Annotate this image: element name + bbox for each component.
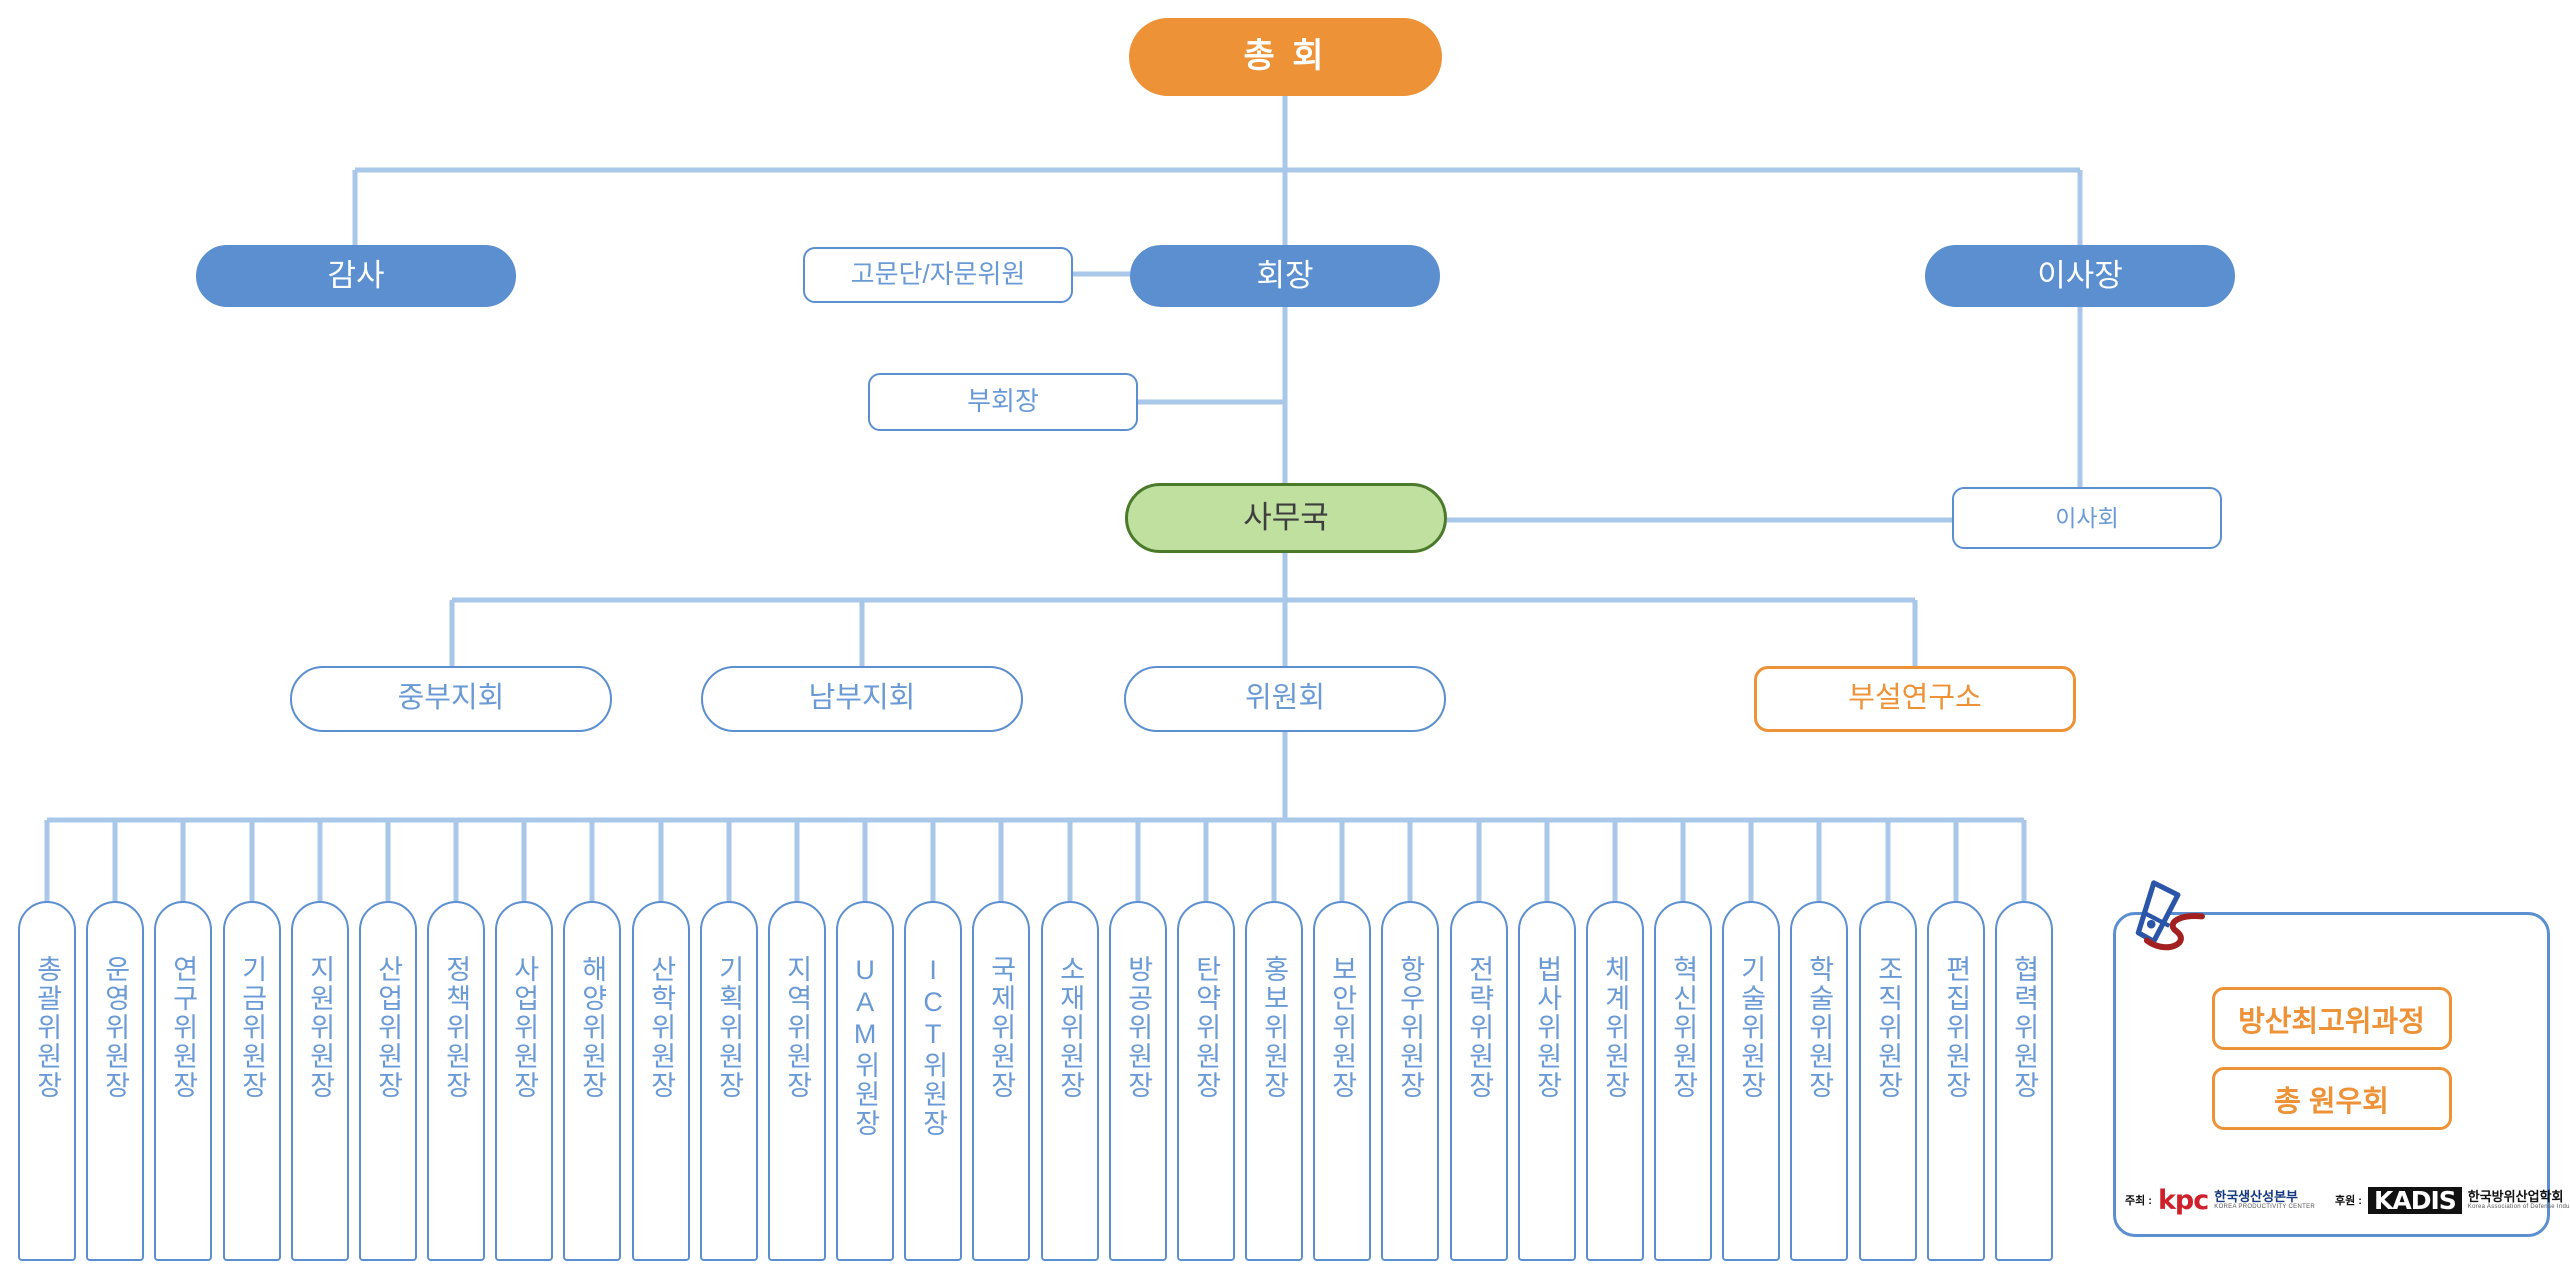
committee-label: 지역위원장 [782,955,812,1100]
node-label: 회장 [1256,258,1313,294]
pen-icon [2128,876,2214,962]
committee-capsule[interactable]: 사업위원장 [495,901,553,1261]
committee-capsule[interactable]: 해양위원장 [563,901,621,1261]
committee-capsule[interactable]: 정책위원장 [427,901,485,1261]
committee-label: 학술위원장 [1804,955,1834,1100]
committee-capsule[interactable]: 지원위원장 [291,901,349,1261]
committee-capsule[interactable]: 기술위원장 [1722,901,1780,1261]
node-secretariat[interactable]: 사무국 [1125,483,1447,553]
committee-label: 소재위원장 [1055,955,1085,1100]
committee-capsule[interactable]: 학술위원장 [1790,901,1848,1261]
committee-capsule[interactable]: 연구위원장 [154,901,212,1261]
committee-label: 협력위원장 [2009,955,2039,1100]
committee-label: 혁신위원장 [1668,955,1698,1100]
committee-label: 정책위원장 [441,955,471,1100]
node-label: 총 회 [1243,37,1327,76]
node-label: 감사 [327,258,384,294]
committee-label: 방공위원장 [1123,955,1153,1100]
committee-capsule[interactable]: 지역위원장 [768,901,826,1261]
committee-capsule[interactable]: 방공위원장 [1109,901,1167,1261]
logo-kadis: 후원 : KADIS 한국방위산업학회 Korea Association of… [2335,1187,2570,1214]
node-southern-branch[interactable]: 남부지회 [701,666,1023,732]
committee-label: 기술위원장 [1736,955,1766,1100]
logo-kpc: 주최 : kpc 한국생산성본부 KOREA PRODUCTIVITY CENT… [2125,1187,2315,1214]
committee-capsule[interactable]: 산학위원장 [632,901,690,1261]
logo-name-en: KOREA PRODUCTIVITY CENTER [2214,1204,2315,1210]
panel-button-label: 총 원우회 [2274,1078,2389,1120]
committee-capsule[interactable]: 기획위원장 [700,901,758,1261]
panel-button-alumni-association[interactable]: 총 원우회 [2212,1067,2452,1130]
committee-capsule[interactable]: 보안위원장 [1313,901,1371,1261]
committee-capsule[interactable]: 항우위원장 [1381,901,1439,1261]
committee-capsule[interactable]: 체계위원장 [1586,901,1644,1261]
kpc-wordmark-icon: kpc [2158,1187,2208,1214]
committee-label: 홍보위원장 [1259,955,1289,1100]
committee-label: ICT위원장 [918,955,948,1138]
node-label: 부회장 [967,387,1039,417]
committee-capsule[interactable]: 홍보위원장 [1245,901,1303,1261]
committee-capsule[interactable]: 국제위원장 [972,901,1030,1261]
node-label: 위원회 [1245,682,1325,715]
node-label: 사무국 [1243,500,1329,536]
node-committee[interactable]: 위원회 [1124,666,1446,732]
panel-button-label: 방산최고위과정 [2238,998,2425,1040]
committee-label: 사업위원장 [509,955,539,1100]
committee-capsule[interactable]: 기금위원장 [223,901,281,1261]
logo-name-en: Korea Association of Defense Industry St… [2468,1204,2570,1210]
logo-name-ko: 한국생산성본부 [2214,1190,2315,1204]
node-advisory-board[interactable]: 고문단/자문위원 [803,247,1073,303]
committee-label: 지원위원장 [305,955,335,1100]
committee-label: 보안위원장 [1327,955,1357,1100]
committee-label: 산학위원장 [646,955,676,1100]
committee-capsule[interactable]: 조직위원장 [1859,901,1917,1261]
committee-capsule[interactable]: 소재위원장 [1041,901,1099,1261]
committee-label: 기금위원장 [237,955,267,1100]
sponsor-logos: 주최 : kpc 한국생산성본부 KOREA PRODUCTIVITY CENT… [2125,1178,2545,1222]
committee-label: 총괄위원장 [32,955,62,1100]
committee-label: 탄약위원장 [1191,955,1221,1100]
node-label: 부설연구소 [1848,682,1981,715]
committee-capsule-row: 총괄위원장운영위원장연구위원장기금위원장지원위원장산업위원장정책위원장사업위원장… [18,901,2068,1261]
committee-capsule[interactable]: 운영위원장 [86,901,144,1261]
panel-button-defense-executive-course[interactable]: 방산최고위과정 [2212,987,2452,1050]
committee-capsule[interactable]: 전략위원장 [1450,901,1508,1261]
committee-label: 해양위원장 [577,955,607,1100]
committee-capsule[interactable]: 편집위원장 [1927,901,1985,1261]
kadis-wordmark-icon: KADIS [2368,1187,2462,1214]
logo-prefix: 후원 : [2335,1192,2362,1208]
node-board-of-directors[interactable]: 이사회 [1952,487,2222,549]
node-label: 이사회 [2055,505,2118,531]
node-general-assembly[interactable]: 총 회 [1129,18,1442,96]
org-chart-canvas: 총 회 감사 고문단/자문위원 회장 이사장 부회장 사무국 이사회 중부지회 … [0,0,2570,1282]
committee-label: 연구위원장 [168,955,198,1100]
committee-label: 법사위원장 [1532,955,1562,1100]
node-label: 이사장 [2037,258,2123,294]
committee-capsule[interactable]: 협력위원장 [1995,901,2053,1261]
committee-label: 항우위원장 [1395,955,1425,1100]
node-chairman-of-board[interactable]: 이사장 [1925,245,2235,307]
node-label: 중부지회 [398,682,505,715]
committee-label: 운영위원장 [100,955,130,1100]
committee-capsule[interactable]: 탄약위원장 [1177,901,1235,1261]
committee-capsule[interactable]: 산업위원장 [359,901,417,1261]
node-auditor[interactable]: 감사 [196,245,516,307]
committee-label: 산업위원장 [373,955,403,1100]
node-label: 고문단/자문위원 [851,260,1026,290]
committee-capsule[interactable]: ICT위원장 [904,901,962,1261]
node-president[interactable]: 회장 [1130,245,1440,307]
node-vice-president[interactable]: 부회장 [868,373,1138,431]
committee-label: 체계위원장 [1600,955,1630,1100]
committee-capsule[interactable]: 법사위원장 [1518,901,1576,1261]
committee-label: 국제위원장 [986,955,1016,1100]
committee-label: 조직위원장 [1873,955,1903,1100]
logo-name-ko: 한국방위산업학회 [2468,1190,2570,1204]
committee-capsule[interactable]: 총괄위원장 [18,901,76,1261]
committee-capsule[interactable]: UAM위원장 [836,901,894,1261]
committee-label: 전략위원장 [1464,955,1494,1100]
committee-label: 기획위원장 [714,955,744,1100]
node-label: 남부지회 [809,682,916,715]
logo-prefix: 주최 : [2125,1192,2152,1208]
committee-capsule[interactable]: 혁신위원장 [1654,901,1712,1261]
node-central-branch[interactable]: 중부지회 [290,666,612,732]
node-affiliated-research-institute[interactable]: 부설연구소 [1754,666,2076,732]
committee-label: UAM위원장 [850,955,880,1138]
committee-label: 편집위원장 [1941,955,1971,1100]
